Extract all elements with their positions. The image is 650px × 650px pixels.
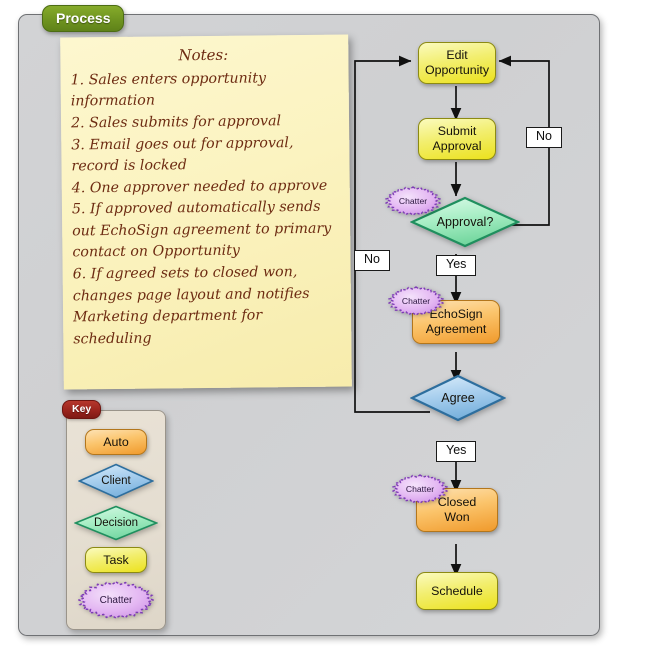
notes-line: changes page layout and notifies bbox=[73, 283, 339, 307]
notes-line: 3. Email goes out for approval, bbox=[71, 132, 337, 156]
flow-node-edit-opportunity[interactable]: Edit Opportunity bbox=[418, 42, 496, 84]
process-tab-label: Process bbox=[56, 10, 110, 26]
notes-line: 2. Sales submits for approval bbox=[71, 111, 337, 135]
notes-line: 6. If agreed sets to closed won, bbox=[73, 262, 339, 286]
edge-label-no-left: No bbox=[354, 250, 390, 271]
notes-line: 5. If approved automatically sends bbox=[72, 197, 338, 221]
key-legend-panel: Auto Client bbox=[66, 410, 166, 630]
key-item-label: Auto bbox=[103, 435, 129, 450]
chatter-icon-approval[interactable]: Chatter bbox=[385, 186, 441, 216]
key-item-task[interactable]: Task bbox=[85, 547, 147, 573]
key-item-auto[interactable]: Auto bbox=[85, 429, 147, 455]
edge-label-text: No bbox=[364, 252, 380, 266]
notes-line: 4. One approver needed to approve bbox=[72, 175, 338, 199]
notes-line: contact on Opportunity bbox=[72, 240, 338, 264]
flow-node-agree-decision[interactable]: Agree bbox=[410, 374, 506, 422]
edge-label-no-right: No bbox=[526, 127, 562, 148]
notes-line: out EchoSign agreement to primary bbox=[72, 218, 338, 242]
edge-label-text: Yes bbox=[446, 257, 466, 271]
flow-node-submit-approval[interactable]: Submit Approval bbox=[418, 118, 496, 160]
key-badge-label: Key bbox=[72, 403, 91, 415]
notes-title: Notes: bbox=[70, 43, 336, 69]
screenshot-root: Process Notes: 1. Sales enters opportuni… bbox=[0, 0, 650, 650]
key-item-decision[interactable]: Decision bbox=[74, 505, 158, 541]
notes-line: record is locked bbox=[71, 154, 337, 178]
process-tab[interactable]: Process bbox=[42, 5, 124, 32]
chatter-icon-echosign[interactable]: Chatter bbox=[388, 286, 444, 316]
key-item-chatter[interactable]: Chatter bbox=[78, 581, 154, 619]
edge-label-text: Yes bbox=[446, 443, 466, 457]
notes-line: scheduling bbox=[73, 326, 339, 350]
flow-node-label: Schedule bbox=[431, 584, 483, 599]
notes-sticky: Notes: 1. Sales enters opportunity infor… bbox=[60, 35, 352, 390]
key-item-client[interactable]: Client bbox=[78, 463, 154, 499]
edge-label-text: No bbox=[536, 129, 552, 143]
key-badge: Key bbox=[62, 400, 101, 419]
edge-label-yes-approval: Yes bbox=[436, 255, 476, 276]
notes-line: Marketing department for bbox=[73, 305, 339, 329]
edge-label-yes-agree: Yes bbox=[436, 441, 476, 462]
flow-node-label: Edit Opportunity bbox=[425, 48, 489, 77]
key-item-label: Task bbox=[103, 553, 128, 568]
notes-line: information bbox=[71, 89, 337, 113]
notes-line: 1. Sales enters opportunity bbox=[71, 67, 337, 91]
chatter-icon-closed-won[interactable]: Chatter bbox=[392, 474, 448, 504]
flow-node-label: Submit Approval bbox=[433, 124, 482, 153]
flow-node-schedule[interactable]: Schedule bbox=[416, 572, 498, 610]
